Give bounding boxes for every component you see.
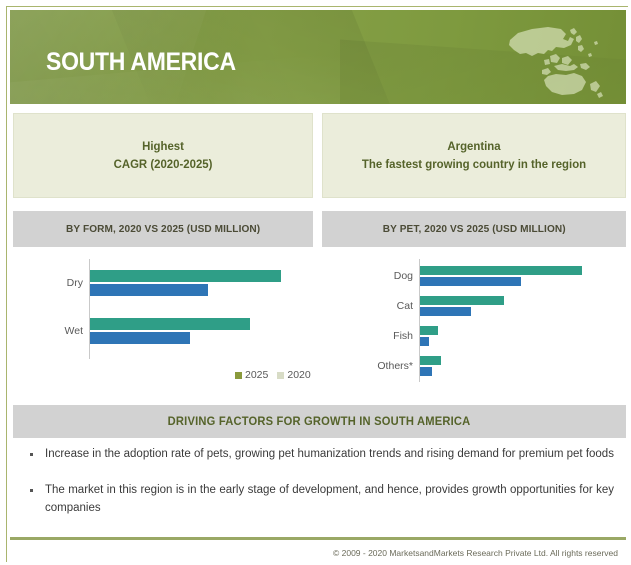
section-header-by-form-label: BY FORM, 2020 VS 2025 (USD MILLION) [66,223,260,235]
chart-category-group: Cat [420,295,595,317]
legend-label: 2020 [287,369,310,381]
legend-label: 2025 [245,369,268,381]
chart-category-label: Fish [393,330,420,342]
footer: © 2009 - 2020 MarketsandMarkets Research… [10,544,626,561]
header-banner: SOUTH AMERICA [10,10,626,104]
chart-bar-2025[interactable] [90,318,250,330]
chart-bar-2025[interactable] [90,270,281,282]
legend-swatch-2020 [277,372,284,379]
chart-category-label: Cat [397,300,420,312]
chart-bar-2025[interactable] [420,356,441,365]
chart-category-group: Dog [420,265,595,287]
driving-factor-item: The market in this region is in the earl… [13,482,626,518]
driving-factors-title: DRIVING FACTORS FOR GROWTH IN SOUTH AMER… [168,416,471,428]
chart-bar-2025[interactable] [420,266,582,275]
world-map-asia-pacific-icon [504,20,608,100]
footer-rule [10,537,626,540]
highlight-country-line1: Argentina [362,138,586,155]
chart-bar-2025[interactable] [420,296,504,305]
chart-legend: 20252020 [235,369,311,381]
driving-factors-list: Increase in the adoption rate of pets, g… [13,446,626,535]
chart-bar-2020[interactable] [90,332,190,344]
chart-bar-2020[interactable] [420,367,432,376]
chart-bar-2020[interactable] [420,307,471,316]
chart-bar-2020[interactable] [420,277,521,286]
chart-category-label: Wet [65,325,90,337]
infographic-page: SOUTH AMERICA [0,0,631,565]
highlight-panel-country: Argentina The fastest growing country in… [322,113,626,198]
chart-bar-2025[interactable] [420,326,438,335]
legend-swatch-2025 [235,372,242,379]
chart-category-group: Others* [420,355,595,377]
highlight-cagr-line1: Highest [114,138,213,155]
chart-by-pet: DogCatFishOthers* [322,251,626,396]
chart-bar-2020[interactable] [420,337,429,346]
section-header-by-form: BY FORM, 2020 VS 2025 (USD MILLION) [13,211,313,247]
chart-category-label: Others* [377,360,420,372]
chart-bar-2020[interactable] [90,284,208,296]
chart-category-group: Wet [90,317,290,344]
highlight-panel-cagr: Highest CAGR (2020-2025) [13,113,313,198]
driving-factors-header: DRIVING FACTORS FOR GROWTH IN SOUTH AMER… [13,405,626,438]
chart-by-form: DryWet 20252020 [13,251,313,396]
chart-category-group: Dry [90,269,290,296]
highlight-country-line2: The fastest growing country in the regio… [362,156,586,173]
highlight-cagr-line2: CAGR (2020-2025) [114,156,213,173]
legend-item[interactable]: 2020 [277,369,310,381]
chart-category-label: Dry [67,277,90,289]
legend-item[interactable]: 2025 [235,369,268,381]
copyright-text: © 2009 - 2020 MarketsandMarkets Research… [333,548,626,558]
chart-category-label: Dog [394,270,420,282]
driving-factor-item: Increase in the adoption rate of pets, g… [13,446,626,464]
section-header-by-pet-label: BY PET, 2020 VS 2025 (USD MILLION) [383,223,566,235]
section-header-by-pet: BY PET, 2020 VS 2025 (USD MILLION) [322,211,626,247]
chart-category-group: Fish [420,325,595,347]
page-title: SOUTH AMERICA [46,48,236,77]
